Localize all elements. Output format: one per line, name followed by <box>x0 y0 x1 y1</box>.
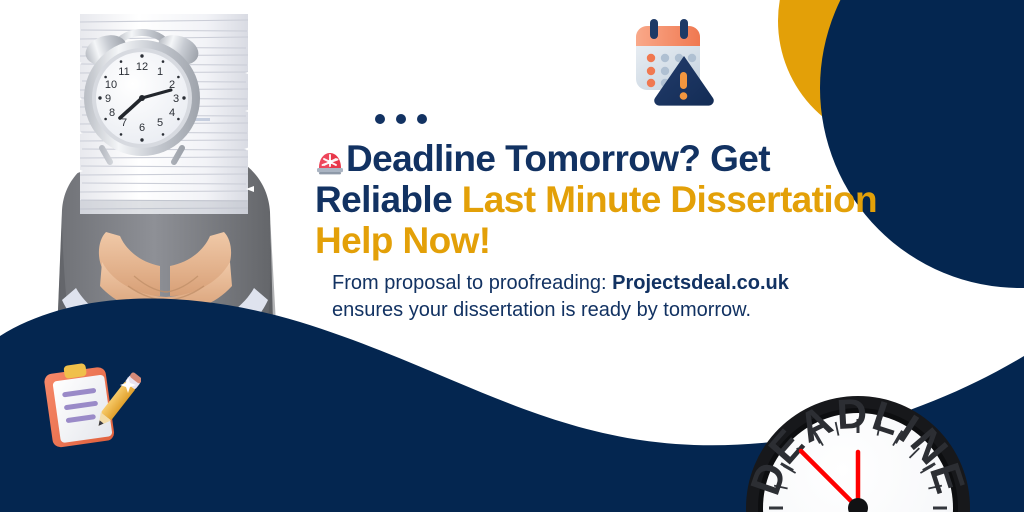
headline-line-2-gold: Last Minute Dissertation <box>462 179 877 220</box>
svg-text:1: 1 <box>157 66 163 78</box>
headline: Deadline Tomorrow? Get Reliable Last Min… <box>315 138 915 261</box>
subtext-lead: From proposal to proofreading: <box>332 272 612 294</box>
deadline-clock-graphic: DEADLINE <box>742 392 974 512</box>
svg-text:4: 4 <box>169 107 175 119</box>
headline-line-3: Help Now! <box>315 220 490 261</box>
decorative-dots <box>375 114 427 124</box>
headline-line-2-navy: Reliable <box>315 179 462 220</box>
svg-text:10: 10 <box>105 79 117 91</box>
svg-text:12: 12 <box>136 61 148 73</box>
svg-text:8: 8 <box>109 107 115 119</box>
brand-name: Projectsdeal.co.uk <box>612 272 789 294</box>
subtext: From proposal to proofreading: Projectsd… <box>332 270 892 324</box>
calendar-warning-icon <box>624 14 716 106</box>
svg-text:6: 6 <box>139 122 145 134</box>
svg-text:3: 3 <box>173 93 179 105</box>
subtext-tail: ensures your dissertation is ready by to… <box>332 299 751 321</box>
svg-text:11: 11 <box>118 66 129 78</box>
promotional-banner: 1212 345 678 91011 <box>0 0 1024 512</box>
dot-1 <box>375 114 385 124</box>
dot-3 <box>417 114 427 124</box>
svg-text:9: 9 <box>105 93 111 105</box>
clipboard-pencil-icon <box>36 355 141 455</box>
exclamation-mark <box>680 72 688 100</box>
dot-2 <box>396 114 406 124</box>
svg-text:7: 7 <box>121 117 127 129</box>
headline-line-1: Deadline Tomorrow? Get <box>346 138 770 179</box>
police-car-light-emoji <box>315 147 345 176</box>
silver-twin-bell-alarm-clock: 1212 345 678 91011 <box>72 12 212 172</box>
svg-text:5: 5 <box>157 117 163 129</box>
